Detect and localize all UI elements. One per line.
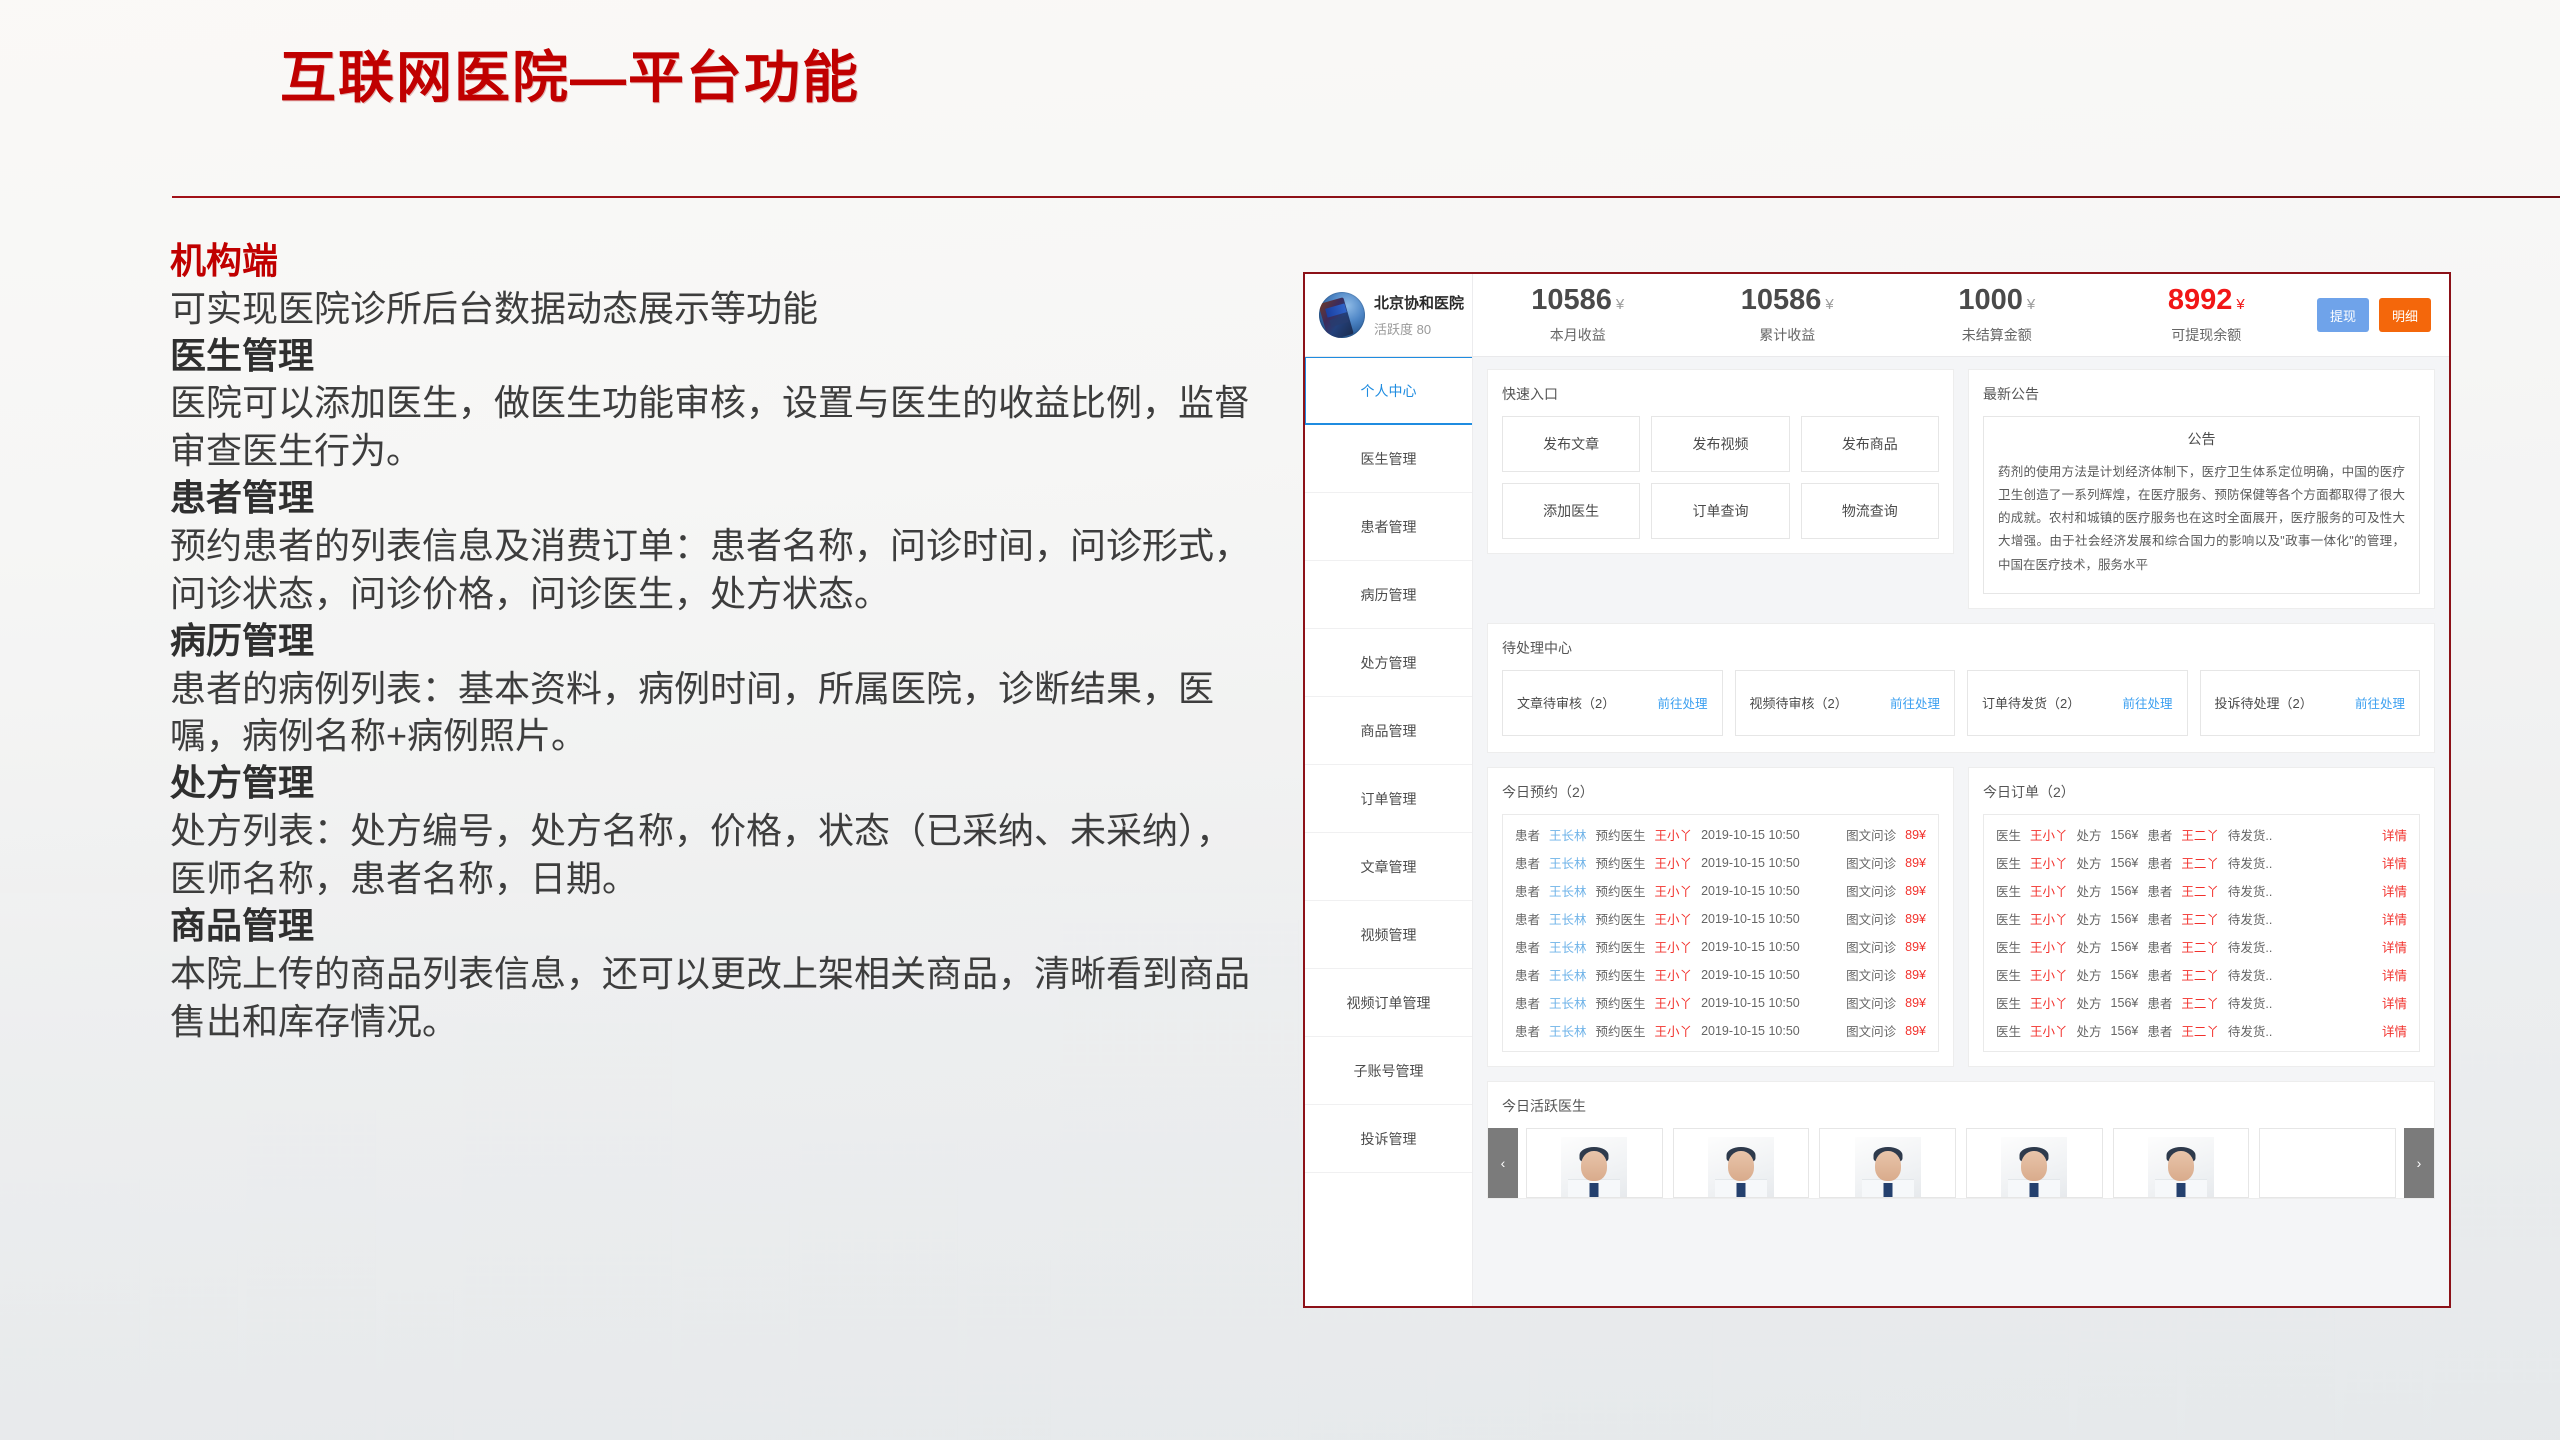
patient-label: 患者: [2147, 853, 2172, 872]
sidebar-item-投诉管理[interactable]: 投诉管理: [1305, 1105, 1472, 1173]
sidebar-item-商品管理[interactable]: 商品管理: [1305, 697, 1472, 765]
todo-item[interactable]: 订单待发货（2）前往处理: [1967, 670, 2188, 736]
stat-item: 10586¥本月收益: [1473, 282, 1683, 349]
next-glyph: ›: [2417, 1155, 2422, 1171]
consult-type: 图文问诊: [1846, 937, 1896, 956]
dashboard-frame: 北京协和医院 活跃度 80 10586¥本月收益10586¥累计收益1000¥未…: [1303, 272, 2451, 1308]
withdraw-button[interactable]: 提现: [2317, 298, 2369, 332]
doctor-card[interactable]: [1526, 1128, 1663, 1198]
consult-type: 图文问诊: [1846, 993, 1896, 1012]
activity-label: 活跃度: [1374, 322, 1413, 337]
todo-action-link[interactable]: 前往处理: [1657, 693, 1707, 712]
appointment-row[interactable]: 患者王长林预约医生王小丫2019-10-15 10:50图文问诊89¥: [1515, 989, 1926, 1017]
order-status: 待发货..: [2228, 909, 2373, 928]
orders-table: 医生王小丫处方156¥患者王二丫待发货..详情医生王小丫处方156¥患者王二丫待…: [1983, 814, 2420, 1052]
patient-label: 患者: [1515, 909, 1540, 928]
order-details-link[interactable]: 详情: [2382, 937, 2407, 956]
doctor-label: 预约医生: [1596, 825, 1646, 844]
patient-label: 患者: [1515, 993, 1540, 1012]
doctor-face: [2021, 1151, 2047, 1181]
patient-name: 王二丫: [2181, 965, 2219, 984]
consult-type: 图文问诊: [1846, 853, 1896, 872]
organization-block: 北京协和医院 活跃度 80: [1305, 274, 1473, 356]
todo-grid[interactable]: 文章待审核（2）前往处理视频待审核（2）前往处理订单待发货（2）前往处理投诉待处…: [1488, 670, 2434, 752]
doctor-name: 王小丫: [1655, 993, 1693, 1012]
patient-name: 王二丫: [2181, 853, 2219, 872]
consult-price: 89¥: [1905, 856, 1926, 870]
sidebar-item-处方管理[interactable]: 处方管理: [1305, 629, 1472, 697]
consult-price: 89¥: [1905, 940, 1926, 954]
orders-title: 今日订单（2）: [1969, 768, 2434, 814]
sidebar-item-文章管理[interactable]: 文章管理: [1305, 833, 1472, 901]
stat-item: 10586¥累计收益: [1683, 282, 1893, 349]
background-building: [0, 1180, 140, 1440]
doctor-card[interactable]: [1966, 1128, 2103, 1198]
order-item: 处方: [2077, 1021, 2102, 1040]
quick-entry-tile[interactable]: 订单查询: [1651, 483, 1789, 539]
todo-item[interactable]: 视频待审核（2）前往处理: [1735, 670, 1956, 736]
title-area: 互联网医院—平台功能: [0, 46, 2560, 110]
patient-label: 患者: [1515, 1021, 1540, 1040]
stat-value: 8992¥: [2168, 286, 2245, 315]
stat-label: 未结算金额: [1962, 325, 2032, 345]
doctors-next-arrow-icon[interactable]: ›: [2404, 1128, 2434, 1198]
description-paragraph: 预约患者的列表信息及消费订单：患者名称，问诊时间，问诊形式，问诊状态，问诊价格，…: [170, 522, 1275, 618]
appointments-table: 患者王长林预约医生王小丫2019-10-15 10:50图文问诊89¥患者王长林…: [1502, 814, 1939, 1052]
dashboard-sidebar[interactable]: 个人中心医生管理患者管理病历管理处方管理商品管理订单管理文章管理视频管理视频订单…: [1305, 357, 1473, 1306]
order-price: 156¥: [2111, 968, 2139, 982]
page-title: 互联网医院—平台功能: [280, 46, 2560, 110]
active-doctors-title: 今日活跃医生: [1488, 1082, 2434, 1128]
sidebar-item-订单管理[interactable]: 订单管理: [1305, 765, 1472, 833]
orders-panel: 今日订单（2） 医生王小丫处方156¥患者王二丫待发货..详情医生王小丫处方15…: [1968, 767, 2435, 1067]
doctor-photo: [2148, 1137, 2214, 1198]
doctor-name: 王小丫: [2030, 825, 2068, 844]
doctor-name: 王小丫: [1655, 909, 1693, 928]
doctor-card-list[interactable]: [1518, 1128, 2404, 1198]
patient-name: 王长林: [1549, 1021, 1587, 1040]
order-details-link[interactable]: 详情: [2382, 993, 2407, 1012]
patient-label: 患者: [1515, 965, 1540, 984]
currency-symbol: ¥: [1825, 296, 1833, 313]
doctor-photo: [1708, 1137, 1774, 1198]
currency-symbol: ¥: [1616, 296, 1624, 313]
patient-label: 患者: [2147, 825, 2172, 844]
order-status: 待发货..: [2228, 1021, 2373, 1040]
doctor-label: 医生: [1996, 909, 2021, 928]
appointments-panel: 今日预约（2） 患者王长林预约医生王小丫2019-10-15 10:50图文问诊…: [1487, 767, 1954, 1067]
doctor-card[interactable]: [2259, 1128, 2396, 1198]
description-paragraph: 医师名称，患者名称，日期。: [170, 855, 1275, 903]
doctor-label: 医生: [1996, 993, 2021, 1012]
order-details-link[interactable]: 详情: [2382, 881, 2407, 900]
todo-label: 投诉待处理（2）: [2215, 693, 2313, 712]
stat-value: 10586¥: [1531, 286, 1624, 315]
notice-body-text: 药剂的使用方法是计划经济体制下，医疗卫生体系定位明确，中国的医疗卫生创造了一系列…: [1998, 461, 2405, 577]
order-details-link[interactable]: 详情: [2382, 825, 2407, 844]
patient-name: 王长林: [1549, 993, 1587, 1012]
doctor-label: 预约医生: [1596, 1021, 1646, 1040]
patient-label: 患者: [2147, 937, 2172, 956]
doctor-tie: [1883, 1183, 1892, 1198]
appointment-row[interactable]: 患者王长林预约医生王小丫2019-10-15 10:50图文问诊89¥: [1515, 961, 1926, 989]
patient-name: 王二丫: [2181, 909, 2219, 928]
description-column: 机构端可实现医院诊所后台数据动态展示等功能医生管理医院可以添加医生，做医生功能审…: [170, 238, 1275, 1045]
order-price: 156¥: [2111, 912, 2139, 926]
sidebar-item-子账号管理[interactable]: 子账号管理: [1305, 1037, 1472, 1105]
patient-name: 王长林: [1549, 937, 1587, 956]
description-heading: 商品管理: [170, 903, 1275, 950]
quick-entry-tile[interactable]: 发布商品: [1801, 416, 1939, 472]
doctor-photo: [1561, 1137, 1627, 1198]
order-status: 待发货..: [2228, 965, 2373, 984]
notice-card-title: 公告: [1998, 429, 2405, 449]
order-details-link[interactable]: 详情: [2382, 965, 2407, 984]
description-paragraph: 医院可以添加医生，做医生功能审核，设置与医生的收益比例，监督审查医生行为。: [170, 379, 1275, 475]
dashboard-content: 快速入口 发布文章发布视频发布商品添加医生订单查询物流查询 最新公告 公告 药剂…: [1473, 357, 2449, 1306]
order-details-link[interactable]: 详情: [2382, 909, 2407, 928]
stat-value: 10586¥: [1741, 286, 1834, 315]
consult-type: 图文问诊: [1846, 881, 1896, 900]
hospital-avatar-icon: [1319, 292, 1365, 338]
doctor-tie: [1590, 1183, 1599, 1198]
appointment-time: 2019-10-15 10:50: [1701, 912, 1837, 926]
order-item: 处方: [2077, 825, 2102, 844]
description-heading: 机构端: [170, 238, 1275, 285]
patient-name: 王二丫: [2181, 993, 2219, 1012]
doctor-tie: [2177, 1183, 2186, 1198]
todo-action-link[interactable]: 前往处理: [2122, 693, 2172, 712]
doctor-label: 医生: [1996, 853, 2021, 872]
doctor-label: 医生: [1996, 1021, 2021, 1040]
description-heading: 处方管理: [170, 760, 1275, 807]
notice-card: 公告 药剂的使用方法是计划经济体制下，医疗卫生体系定位明确，中国的医疗卫生创造了…: [1983, 416, 2420, 594]
order-price: 156¥: [2111, 1024, 2139, 1038]
consult-price: 89¥: [1905, 968, 1926, 982]
todo-title: 待处理中心: [1488, 624, 2434, 670]
consult-price: 89¥: [1905, 828, 1926, 842]
doctor-name: 王小丫: [2030, 993, 2068, 1012]
appointment-row[interactable]: 患者王长林预约医生王小丫2019-10-15 10:50图文问诊89¥: [1515, 821, 1926, 849]
order-price: 156¥: [2111, 884, 2139, 898]
order-row[interactable]: 医生王小丫处方156¥患者王二丫待发货..详情: [1996, 821, 2407, 849]
background-building: [966, 1260, 1051, 1440]
stats-row: 10586¥本月收益10586¥累计收益1000¥未结算金额8992¥可提现余额: [1473, 274, 2311, 356]
activity-value: 80: [1417, 322, 1431, 337]
doctor-face: [1875, 1151, 1901, 1181]
order-status: 待发货..: [2228, 881, 2373, 900]
doctor-name: 王小丫: [1655, 853, 1693, 872]
order-row[interactable]: 医生王小丫处方156¥患者王二丫待发货..详情: [1996, 849, 2407, 877]
order-price: 156¥: [2111, 856, 2139, 870]
todo-label: 订单待发货（2）: [1982, 693, 2080, 712]
quick-entry-tile[interactable]: 发布视频: [1651, 416, 1789, 472]
appointments-title: 今日预约（2）: [1488, 768, 1953, 814]
active-doctors-panel: 今日活跃医生 ‹ ›: [1487, 1081, 2435, 1199]
order-item: 处方: [2077, 881, 2102, 900]
patient-name: 王二丫: [2181, 825, 2219, 844]
notice-panel: 最新公告 公告 药剂的使用方法是计划经济体制下，医疗卫生体系定位明确，中国的医疗…: [1968, 369, 2435, 609]
order-item: 处方: [2077, 965, 2102, 984]
patient-label: 患者: [2147, 965, 2172, 984]
order-row[interactable]: 医生王小丫处方156¥患者王二丫待发货..详情: [1996, 961, 2407, 989]
quick-entry-title: 快速入口: [1488, 370, 1953, 416]
dashboard-header: 北京协和医院 活跃度 80 10586¥本月收益10586¥累计收益1000¥未…: [1305, 274, 2449, 357]
background-building: [148, 1250, 238, 1440]
doctor-name: 王小丫: [2030, 853, 2068, 872]
order-status: 待发货..: [2228, 825, 2373, 844]
doctor-name: 王小丫: [2030, 965, 2068, 984]
order-row[interactable]: 医生王小丫处方156¥患者王二丫待发货..详情: [1996, 877, 2407, 905]
patient-name: 王长林: [1549, 965, 1587, 984]
quick-entry-grid[interactable]: 发布文章发布视频发布商品添加医生订单查询物流查询: [1488, 416, 1953, 553]
appointment-time: 2019-10-15 10:50: [1701, 968, 1837, 982]
sidebar-item-个人中心[interactable]: 个人中心: [1305, 357, 1472, 425]
patient-label: 患者: [1515, 881, 1540, 900]
doctor-name: 王小丫: [1655, 1021, 1693, 1040]
patient-label: 患者: [1515, 937, 1540, 956]
doctor-label: 预约医生: [1596, 965, 1646, 984]
consult-price: 89¥: [1905, 996, 1926, 1010]
stat-label: 可提现余额: [2171, 325, 2241, 345]
doctor-label: 医生: [1996, 937, 2021, 956]
sidebar-item-视频管理[interactable]: 视频管理: [1305, 901, 1472, 969]
order-details-link[interactable]: 详情: [2382, 1021, 2407, 1040]
currency-symbol: ¥: [2027, 296, 2035, 313]
doctor-card[interactable]: [1819, 1128, 1956, 1198]
appointment-row[interactable]: 患者王长林预约医生王小丫2019-10-15 10:50图文问诊89¥: [1515, 877, 1926, 905]
doctor-card[interactable]: [2113, 1128, 2250, 1198]
description-paragraph: 处方列表：处方编号，处方名称，价格，状态（已采纳、未采纳），: [170, 807, 1275, 855]
sidebar-item-视频订单管理[interactable]: 视频订单管理: [1305, 969, 1472, 1037]
quick-entry-tile[interactable]: 发布文章: [1502, 416, 1640, 472]
patient-name: 王长林: [1549, 909, 1587, 928]
description-paragraph: 本院上传的商品列表信息，还可以更改上架相关商品，清晰看到商品售出和库存情况。: [170, 950, 1275, 1046]
background-building: [680, 1200, 790, 1440]
appointment-row[interactable]: 患者王长林预约医生王小丫2019-10-15 10:50图文问诊89¥: [1515, 905, 1926, 933]
stat-label: 累计收益: [1759, 325, 1815, 345]
doctor-label: 预约医生: [1596, 853, 1646, 872]
title-divider: [172, 196, 2560, 198]
order-row[interactable]: 医生王小丫处方156¥患者王二丫待发货..详情: [1996, 933, 2407, 961]
todo-action-link[interactable]: 前往处理: [2355, 693, 2405, 712]
patient-name: 王二丫: [2181, 881, 2219, 900]
patient-label: 患者: [2147, 909, 2172, 928]
order-price: 156¥: [2111, 828, 2139, 842]
description-heading: 患者管理: [170, 475, 1275, 522]
order-item: 处方: [2077, 937, 2102, 956]
quick-entry-panel: 快速入口 发布文章发布视频发布商品添加医生订单查询物流查询: [1487, 369, 1954, 554]
order-status: 待发货..: [2228, 993, 2373, 1012]
todo-label: 文章待审核（2）: [1517, 693, 1615, 712]
prev-glyph: ‹: [1501, 1155, 1506, 1171]
doctor-label: 预约医生: [1596, 937, 1646, 956]
doctor-face: [2168, 1151, 2194, 1181]
sidebar-item-病历管理[interactable]: 病历管理: [1305, 561, 1472, 629]
patient-label: 患者: [1515, 825, 1540, 844]
order-item: 处方: [2077, 993, 2102, 1012]
appointment-time: 2019-10-15 10:50: [1701, 828, 1837, 842]
patient-name: 王二丫: [2181, 937, 2219, 956]
todo-label: 视频待审核（2）: [1750, 693, 1848, 712]
consult-price: 89¥: [1905, 912, 1926, 926]
appointment-time: 2019-10-15 10:50: [1701, 996, 1837, 1010]
currency-symbol: ¥: [2236, 296, 2244, 313]
doctor-label: 医生: [1996, 965, 2021, 984]
stat-item: 1000¥未结算金额: [1892, 282, 2102, 349]
patient-name: 王二丫: [2181, 1021, 2219, 1040]
consult-price: 89¥: [1905, 884, 1926, 898]
patient-label: 患者: [2147, 993, 2172, 1012]
doctor-name: 王小丫: [1655, 965, 1693, 984]
stat-label: 本月收益: [1550, 325, 1606, 345]
todo-item[interactable]: 文章待审核（2）前往处理: [1502, 670, 1723, 736]
sidebar-item-医生管理[interactable]: 医生管理: [1305, 425, 1472, 493]
activity-score: 活跃度 80: [1374, 319, 1464, 338]
consult-type: 图文问诊: [1846, 825, 1896, 844]
doctor-name: 王小丫: [1655, 937, 1693, 956]
description-heading: 病历管理: [170, 618, 1275, 665]
doctor-photo: [1855, 1137, 1921, 1198]
order-status: 待发货..: [2228, 937, 2373, 956]
doctor-face: [1728, 1151, 1754, 1181]
patient-label: 患者: [2147, 881, 2172, 900]
consult-type: 图文问诊: [1846, 1021, 1896, 1040]
details-button[interactable]: 明细: [2379, 298, 2431, 332]
appointment-row[interactable]: 患者王长林预约医生王小丫2019-10-15 10:50图文问诊89¥: [1515, 849, 1926, 877]
todo-item[interactable]: 投诉待处理（2）前往处理: [2200, 670, 2421, 736]
doctor-card[interactable]: [1673, 1128, 1810, 1198]
order-row[interactable]: 医生王小丫处方156¥患者王二丫待发货..详情: [1996, 905, 2407, 933]
description-paragraph: 可实现医院诊所后台数据动态展示等功能: [170, 285, 1275, 333]
order-item: 处方: [2077, 853, 2102, 872]
background-building: [384, 1290, 454, 1440]
doctor-label: 预约医生: [1596, 909, 1646, 928]
background-building: [798, 1140, 958, 1440]
order-item: 处方: [2077, 909, 2102, 928]
order-row[interactable]: 医生王小丫处方156¥患者王二丫待发货..详情: [1996, 989, 2407, 1017]
order-details-link[interactable]: 详情: [2382, 853, 2407, 872]
doctor-name: 王小丫: [1655, 825, 1693, 844]
stat-item: 8992¥可提现余额: [2102, 282, 2312, 349]
consult-type: 图文问诊: [1846, 909, 1896, 928]
stat-value: 1000¥: [1958, 286, 2035, 315]
order-price: 156¥: [2111, 940, 2139, 954]
doctor-label: 预约医生: [1596, 881, 1646, 900]
quick-entry-tile[interactable]: 物流查询: [1801, 483, 1939, 539]
appointment-time: 2019-10-15 10:50: [1701, 856, 1837, 870]
order-status: 待发货..: [2228, 853, 2373, 872]
doctors-prev-arrow-icon[interactable]: ‹: [1488, 1128, 1518, 1198]
patient-label: 患者: [1515, 853, 1540, 872]
todo-action-link[interactable]: 前往处理: [1890, 693, 1940, 712]
consult-type: 图文问诊: [1846, 965, 1896, 984]
doctor-name: 王小丫: [2030, 881, 2068, 900]
description-paragraph: 患者的病例列表：基本资料，病例时间，所属医院，诊断结果，医嘱，病例名称+病例照片…: [170, 665, 1275, 761]
doctor-label: 医生: [1996, 825, 2021, 844]
doctor-tie: [1737, 1183, 1746, 1198]
patient-label: 患者: [2147, 1021, 2172, 1040]
appointment-time: 2019-10-15 10:50: [1701, 884, 1837, 898]
sidebar-item-患者管理[interactable]: 患者管理: [1305, 493, 1472, 561]
background-building: [246, 1110, 376, 1440]
consult-price: 89¥: [1905, 1024, 1926, 1038]
background-building: [462, 1020, 672, 1440]
doctor-label: 医生: [1996, 881, 2021, 900]
order-row[interactable]: 医生王小丫处方156¥患者王二丫待发货..详情: [1996, 1017, 2407, 1045]
patient-name: 王长林: [1549, 853, 1587, 872]
description-heading: 医生管理: [170, 333, 1275, 380]
patient-name: 王长林: [1549, 825, 1587, 844]
patient-name: 王长林: [1549, 881, 1587, 900]
active-doctors-strip: ‹ ›: [1488, 1128, 2434, 1198]
doctor-name: 王小丫: [2030, 1021, 2068, 1040]
todo-panel: 待处理中心 文章待审核（2）前往处理视频待审核（2）前往处理订单待发货（2）前往…: [1487, 623, 2435, 753]
appointment-time: 2019-10-15 10:50: [1701, 940, 1837, 954]
appointment-row[interactable]: 患者王长林预约医生王小丫2019-10-15 10:50图文问诊89¥: [1515, 933, 1926, 961]
quick-entry-tile[interactable]: 添加医生: [1502, 483, 1640, 539]
doctor-tie: [2030, 1183, 2039, 1198]
doctor-photo: [2001, 1137, 2067, 1198]
notice-title: 最新公告: [1969, 370, 2434, 416]
appointment-row[interactable]: 患者王长林预约医生王小丫2019-10-15 10:50图文问诊89¥: [1515, 1017, 1926, 1045]
doctor-face: [1581, 1151, 1607, 1181]
appointment-time: 2019-10-15 10:50: [1701, 1024, 1837, 1038]
hospital-name: 北京协和医院: [1374, 292, 1464, 313]
header-actions: 提现明细: [2311, 274, 2449, 356]
order-price: 156¥: [2111, 996, 2139, 1010]
doctor-name: 王小丫: [1655, 881, 1693, 900]
doctor-label: 预约医生: [1596, 993, 1646, 1012]
doctor-name: 王小丫: [2030, 909, 2068, 928]
doctor-name: 王小丫: [2030, 937, 2068, 956]
